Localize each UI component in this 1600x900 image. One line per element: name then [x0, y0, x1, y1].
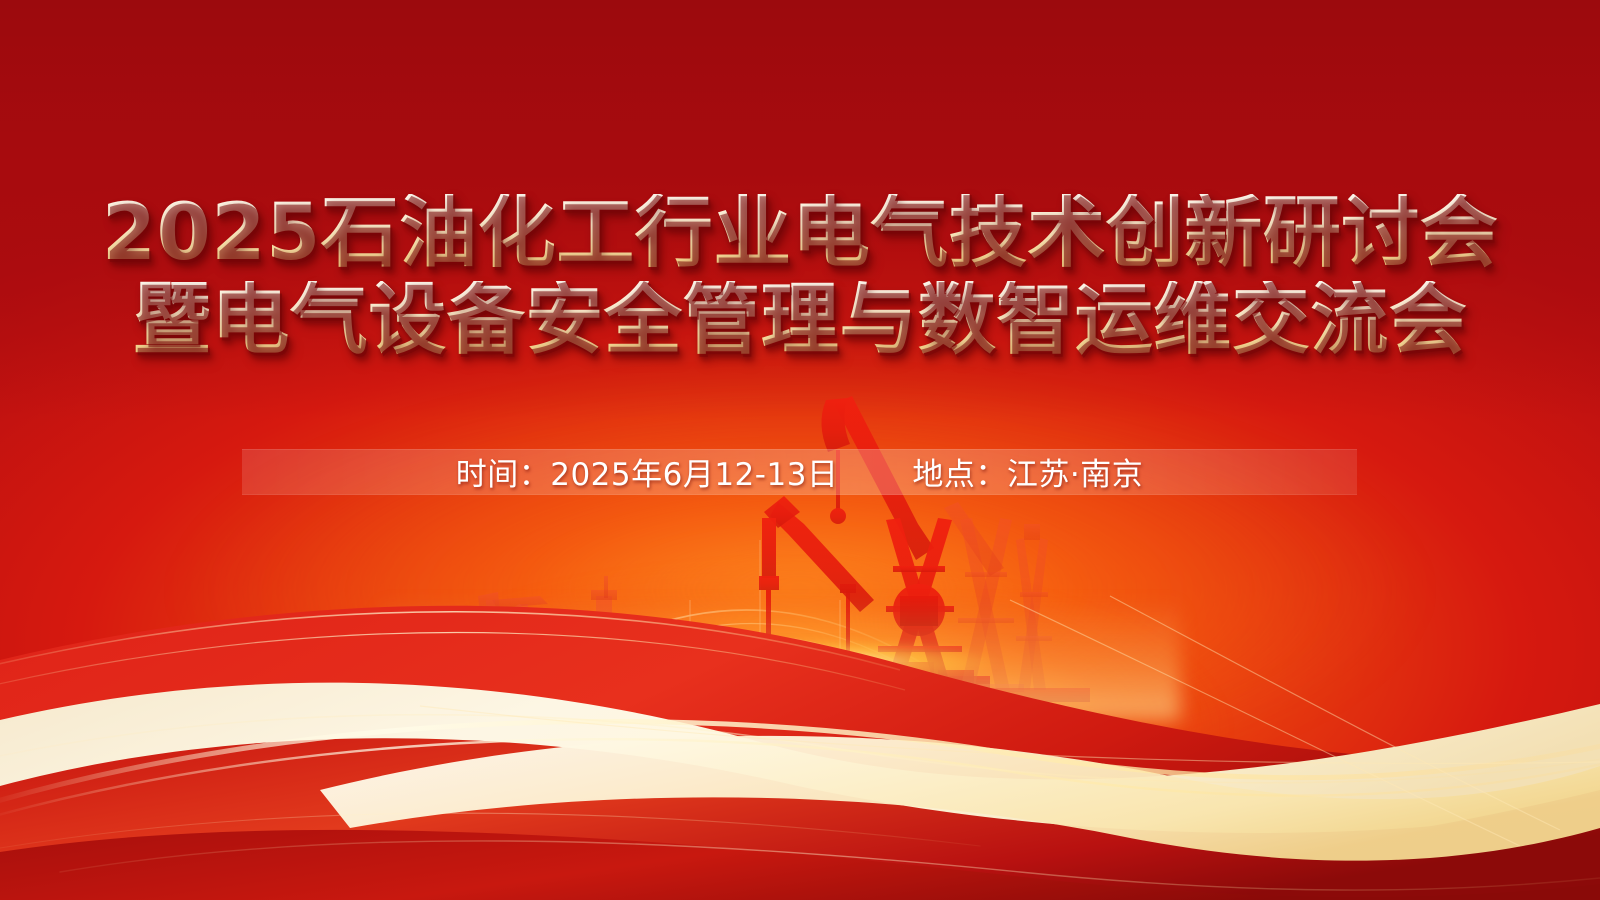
title-line-2: 暨电气设备安全管理与数智运维交流会	[133, 281, 1468, 359]
conference-poster: 2025石油化工行业电气技术创新研讨会 暨电气设备安全管理与数智运维交流会 时间…	[0, 0, 1600, 900]
event-location: 地点：江苏·南京	[912, 449, 1143, 494]
event-date: 时间：2025年6月12-13日	[456, 449, 839, 494]
page-title: 2025石油化工行业电气技术创新研讨会 暨电气设备安全管理与数智运维交流会	[0, 194, 1600, 359]
title-line-1: 2025石油化工行业电气技术创新研讨会	[102, 194, 1499, 272]
info-bar: 时间：2025年6月12-13日 地点：江苏·南京	[242, 449, 1357, 493]
